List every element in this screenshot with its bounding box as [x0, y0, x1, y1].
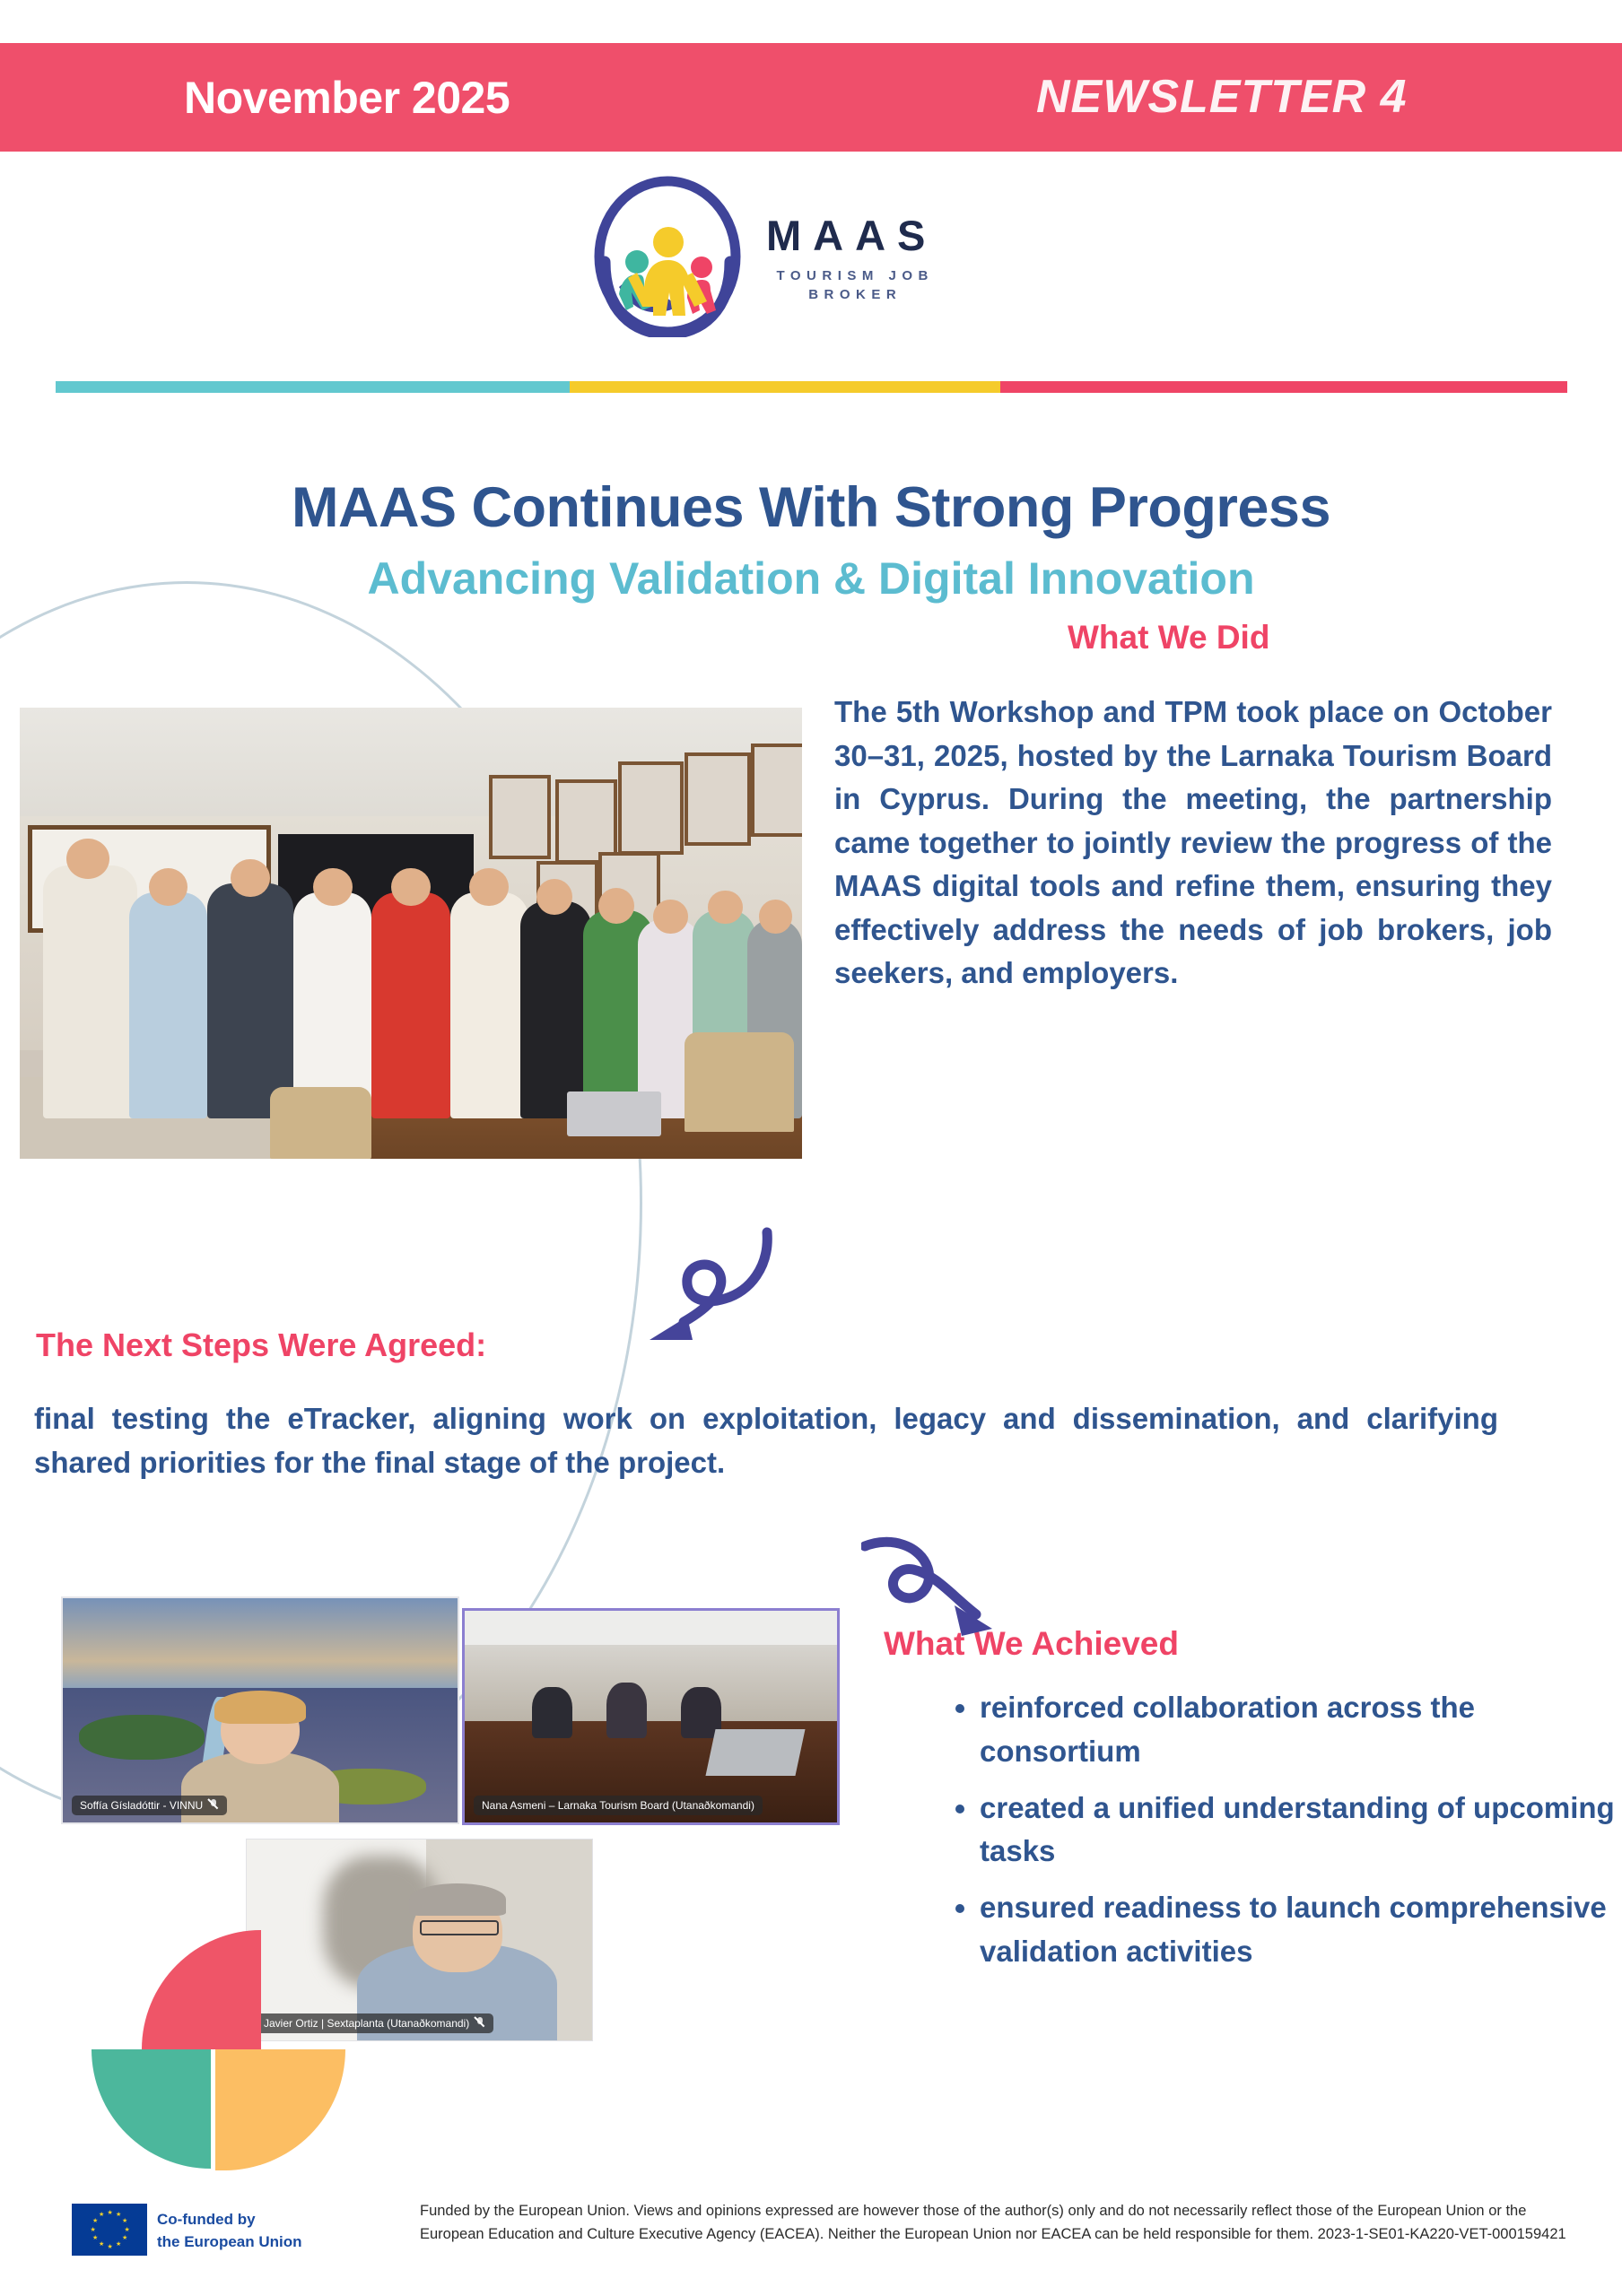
- logo-name: MAAS: [766, 214, 937, 257]
- decorative-quarter-circle-teal: [92, 2049, 211, 2169]
- what-we-did-body: The 5th Workshop and TPM took place on O…: [834, 691, 1552, 996]
- video-tile-1: Soffía Gísladóttir - VINNU: [61, 1596, 459, 1824]
- logo-tagline-line1: TOURISM JOB: [766, 268, 937, 283]
- newsletter-date: November 2025: [184, 72, 510, 124]
- newsletter-page: November 2025 NEWSLETTER 4 MAAS TOURISM …: [0, 0, 1622, 2296]
- video-tile-2: Nana Asmeni – Larnaka Tourism Board (Uta…: [462, 1608, 840, 1825]
- divider-segment-yellow: [570, 381, 1000, 393]
- section-heading-what-we-did: What We Did: [1068, 619, 1269, 657]
- participant-name-3: Javier Ortiz | Sextaplanta (Utanaðkomand…: [264, 2017, 469, 2030]
- list-item: reinforced collaboration across the cons…: [980, 1686, 1622, 1774]
- curly-arrow-down-right-icon: [861, 1530, 1032, 1665]
- page-title: MAAS Continues With Strong Progress: [0, 475, 1622, 540]
- eu-star: ★: [92, 2219, 97, 2223]
- divider-segment-pink: [1000, 381, 1567, 393]
- curly-arrow-down-left-icon: [619, 1220, 789, 1372]
- eu-star: ★: [91, 2228, 95, 2232]
- participant-name-2: Nana Asmeni – Larnaka Tourism Board (Uta…: [482, 1799, 754, 1812]
- eu-flag-icon: ★★★★★★★★★★★★: [72, 2204, 147, 2256]
- eu-star: ★: [108, 2245, 112, 2249]
- logo-tagline-line2: BROKER: [766, 287, 937, 302]
- video-tile-2-label: Nana Asmeni – Larnaka Tourism Board (Uta…: [474, 1796, 763, 1815]
- page-subtitle: Advancing Validation & Digital Innovatio…: [0, 552, 1622, 604]
- list-item: created a unified understanding of upcom…: [980, 1787, 1622, 1874]
- eu-funding-label: Co-funded by the European Union: [157, 2209, 302, 2253]
- eu-star: ★: [116, 2242, 120, 2247]
- mic-muted-icon: [209, 1799, 219, 1812]
- next-steps-body: final testing the eTracker, aligning wor…: [34, 1397, 1498, 1484]
- video-tile-1-label: Soffía Gísladóttir - VINNU: [72, 1796, 227, 1815]
- logo-wordmark: MAAS TOURISM JOB BROKER: [766, 211, 937, 302]
- eu-star: ★: [122, 2236, 126, 2240]
- maas-circle-hands-logo-icon: [592, 176, 743, 337]
- group-photo: [20, 708, 802, 1159]
- eu-star: ★: [92, 2236, 97, 2240]
- achievements-list: reinforced collaboration across the cons…: [942, 1686, 1622, 1987]
- divider-segment-teal: [56, 381, 570, 393]
- decorative-quarter-circle-orange: [215, 2049, 345, 2170]
- video-tile-3: Javier Ortiz | Sextaplanta (Utanaðkomand…: [246, 1839, 593, 2041]
- list-item: ensured readiness to launch comprehensiv…: [980, 1886, 1622, 1974]
- eu-star: ★: [99, 2213, 103, 2217]
- eu-funding-line1: Co-funded by: [157, 2209, 302, 2231]
- mic-muted-icon: [475, 2017, 485, 2030]
- eu-star: ★: [116, 2213, 120, 2217]
- decorative-quarter-circle-red: [142, 1930, 261, 2049]
- eu-star: ★: [125, 2228, 129, 2232]
- maas-logo: MAAS TOURISM JOB BROKER: [592, 176, 1041, 337]
- eu-star: ★: [99, 2242, 103, 2247]
- video-tile-3-label: Javier Ortiz | Sextaplanta (Utanaðkomand…: [256, 2013, 493, 2033]
- participant-name-1: Soffía Gísladóttir - VINNU: [80, 1799, 203, 1812]
- section-heading-next-steps: The Next Steps Were Agreed:: [36, 1326, 486, 1364]
- eu-star: ★: [122, 2219, 126, 2223]
- eu-star: ★: [108, 2211, 112, 2215]
- funding-disclaimer: Funded by the European Union. Views and …: [420, 2199, 1586, 2247]
- tricolor-divider: [56, 381, 1567, 393]
- newsletter-issue-label: NEWSLETTER 4: [1036, 70, 1408, 124]
- eu-funding-line2: the European Union: [157, 2231, 302, 2254]
